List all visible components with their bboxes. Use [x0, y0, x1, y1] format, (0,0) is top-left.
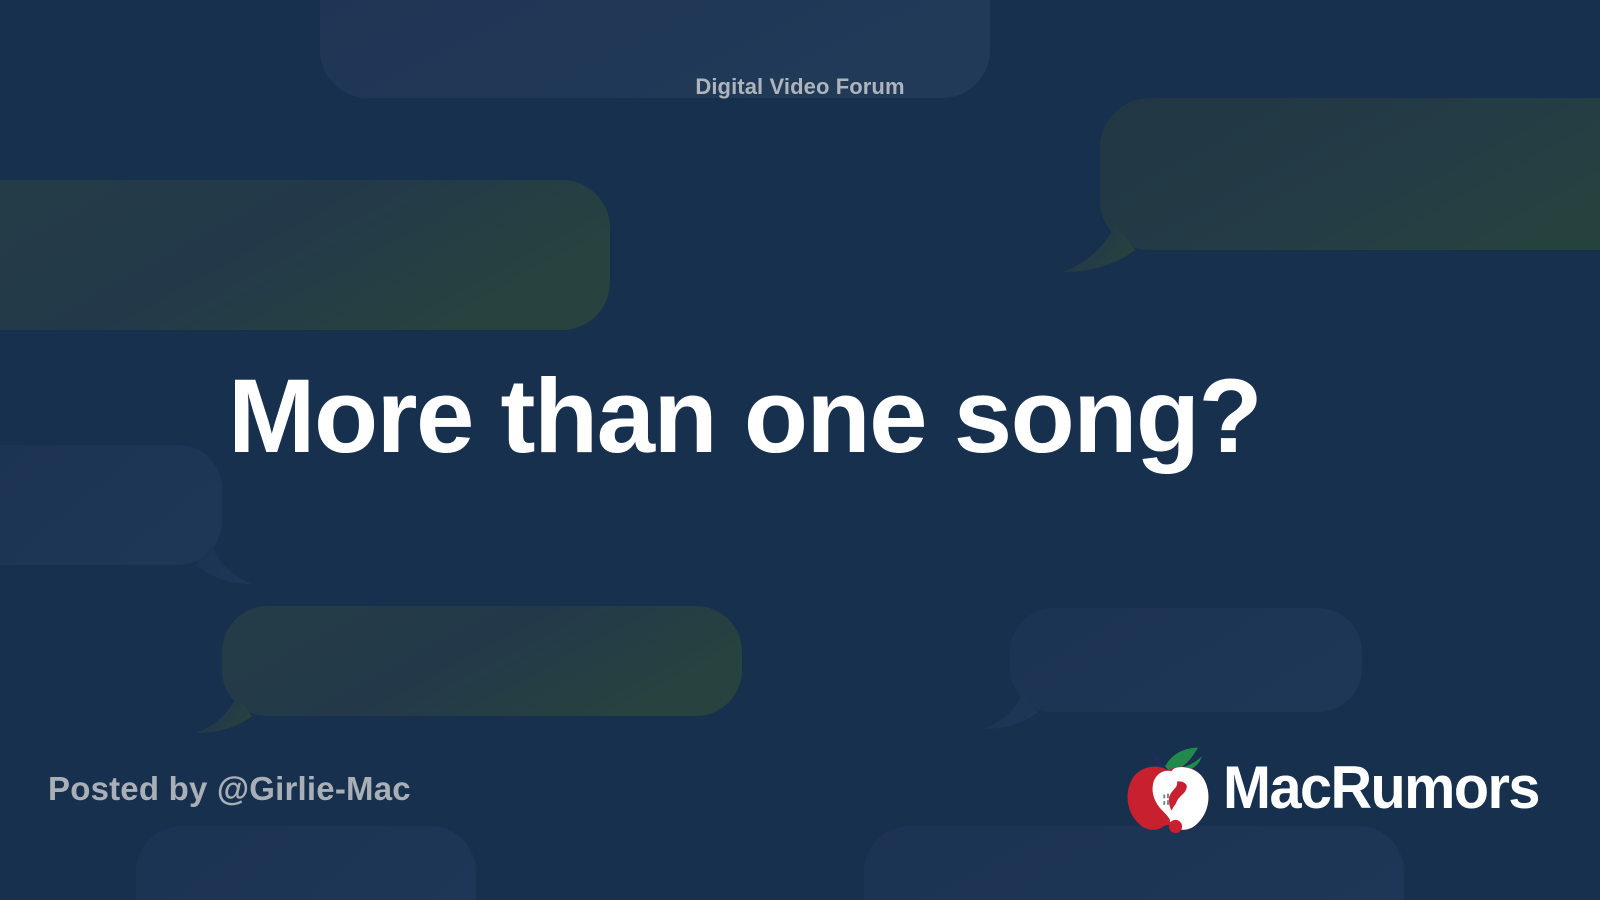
bubble-bottom-right: [864, 826, 1404, 900]
forum-label: Digital Video Forum: [0, 74, 1600, 100]
bubble-center-low: [196, 606, 742, 733]
bubble-top-right: [1063, 98, 1600, 272]
social-share-card: Digital Video Forum More than one song? …: [0, 0, 1600, 900]
question-mark-dot: [1169, 820, 1182, 833]
page-title: More than one song?: [228, 360, 1498, 473]
macrumors-wordmark: MacRumors: [1223, 758, 1539, 818]
macrumors-brand-lockup: MacRumors: [1121, 742, 1552, 834]
bubble-left-mid: [0, 445, 252, 584]
posted-by-author: Posted by @Girlie-Mac: [48, 770, 411, 808]
bubble-mid-left: [0, 180, 610, 330]
macrumors-apple-icon: [1121, 742, 1215, 834]
bubble-right-low: [984, 608, 1362, 729]
bubble-bottom-left: [136, 826, 476, 900]
